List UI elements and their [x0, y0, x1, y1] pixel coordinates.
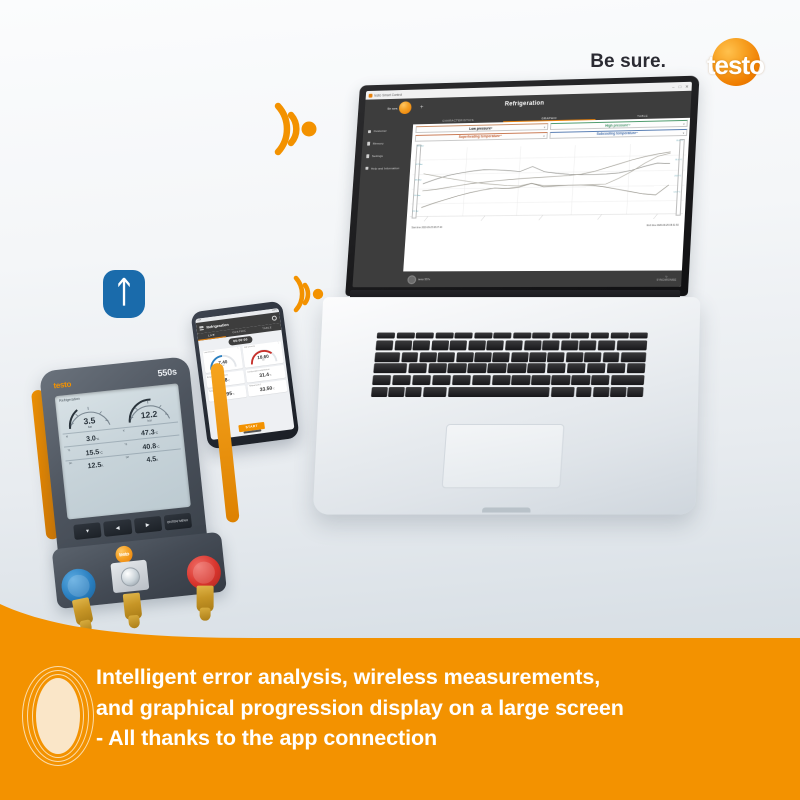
chevron-down-icon[interactable]: ▾ [683, 132, 685, 135]
key-3[interactable] [431, 340, 449, 350]
promo-banner: Intelligent error analysis, wireless mea… [0, 638, 800, 800]
card-evaporation-unit: °C [227, 380, 230, 382]
app-footer: testo 557s ↻ SYNCHRONISE [402, 270, 682, 287]
key-f10[interactable] [571, 333, 589, 339]
key-0[interactable] [561, 340, 579, 350]
key-f9[interactable] [552, 333, 570, 339]
key-8[interactable] [524, 340, 542, 350]
axis-label-left-3: 18.0 bar [415, 179, 422, 181]
banner-line-3: - All thanks to the app connection [96, 723, 786, 754]
key-adiaeresis[interactable] [607, 363, 626, 373]
sidebar-label-help: Help and Information [371, 166, 400, 170]
close-button[interactable]: ✕ [685, 84, 689, 89]
low-side-port [72, 597, 94, 626]
display-value-tc: 47.3 [141, 429, 155, 437]
card-temperature-2-unit: °C [272, 389, 275, 391]
wireless-signal-mid-svg [286, 272, 330, 316]
key-a[interactable] [408, 363, 427, 373]
enter-button[interactable]: ENTER/ MENU [163, 513, 192, 531]
axis-label-left-2: 8.73 bar [416, 163, 423, 165]
display-cell-sc: SC 12.5K [69, 457, 123, 472]
chart-line-superheating-temperature [422, 153, 670, 187]
display-unit-tc: °C [155, 431, 159, 435]
axis-label-right-min: 12.0 °C [673, 191, 680, 193]
axis-label-right-max: 35.0 °C [676, 140, 683, 142]
key-shift-right[interactable] [611, 375, 645, 385]
synchronise-button[interactable]: ↻ SYNCHRONISE [656, 276, 676, 282]
key-space[interactable] [448, 387, 550, 397]
key-f3[interactable] [435, 333, 453, 339]
key-option-right[interactable] [576, 387, 592, 397]
laptop-lid-notch [482, 507, 531, 512]
device-name: testo 557s [418, 278, 430, 281]
banner-line-1: Intelligent error analysis, wireless mea… [96, 662, 786, 693]
bluetooth-icon: ᛏ [103, 270, 145, 318]
brand-tagline: Be sure. [590, 51, 666, 73]
axis-label-left-4: 13.0 bar [414, 195, 421, 197]
card-temperature-2-value: 33.50 [259, 386, 272, 394]
card-condensation-unit: °C [269, 374, 272, 376]
key-7[interactable] [505, 340, 523, 350]
chart-line-low-pressure [422, 162, 669, 183]
key-f4[interactable] [454, 333, 472, 339]
key-b[interactable] [492, 375, 511, 385]
select-subcooling-temperature[interactable]: Subcooling temperaturesc ▾ [549, 129, 687, 139]
bluetooth-glyph: ᛏ [103, 278, 145, 308]
wireless-signal-top-svg [264, 98, 326, 160]
laptop-keyboard[interactable] [370, 333, 648, 410]
display-unit-t2: °C [156, 444, 160, 448]
key-command-right[interactable] [551, 387, 575, 397]
sight-glass-housing [110, 560, 149, 594]
key-backspace[interactable] [616, 340, 647, 350]
sidebar-item-memory[interactable]: Memory [362, 137, 412, 150]
sidebar-label-customer: Customer [373, 129, 386, 133]
key-f2[interactable] [416, 333, 434, 339]
key-f12[interactable] [610, 333, 628, 339]
sidebar-item-help[interactable]: Help and Information [360, 162, 410, 175]
key-power[interactable] [630, 333, 648, 339]
key-shift-left[interactable] [372, 375, 391, 385]
display-value-t1: 15.5 [85, 449, 99, 457]
key-f5[interactable] [474, 333, 492, 339]
key-o[interactable] [547, 352, 565, 362]
minimize-button[interactable]: – [672, 84, 675, 89]
key-control[interactable] [388, 387, 405, 397]
keyboard-row-numbers[interactable] [376, 340, 648, 350]
app-content: CHARACTERISTICS GRAPHIC TABLE Low pressu… [402, 111, 690, 287]
measurement-chart[interactable]: 31.0 bar 8.73 bar 18.0 bar 13.0 bar 8.0 … [409, 139, 687, 228]
key-comma[interactable] [551, 375, 570, 385]
chart-canvas [409, 139, 687, 228]
display-unit-to: °C [96, 437, 100, 441]
key-arrow-updown[interactable] [610, 387, 626, 397]
gauge-high-pressure: 18.60 bar [244, 345, 281, 366]
key-dash[interactable] [591, 375, 610, 385]
key-f8[interactable] [532, 333, 550, 339]
key-n[interactable] [511, 375, 530, 385]
avatar [407, 275, 416, 284]
laptop-lid: testo Smart Control – □ ✕ Be sure. + Ref… [345, 76, 699, 296]
key-odiaeresis[interactable] [587, 363, 606, 373]
display-value-sc: 12.5 [87, 462, 101, 470]
brand-name: testo [707, 50, 764, 81]
chart-end-time: End time 2020-09-25 08:31:50 [647, 224, 679, 226]
select-superheating-temperature[interactable]: Superheating temperaturesh ▾ [414, 132, 547, 142]
database-icon [367, 142, 370, 145]
key-d[interactable] [448, 363, 467, 373]
laptop-base [313, 297, 701, 514]
laptop-screen: testo Smart Control – □ ✕ Be sure. + Ref… [352, 82, 692, 287]
chart-start-time: Start time 2020-09-25 08:27:40 [411, 227, 442, 229]
laptop-device: testo Smart Control – □ ✕ Be sure. + Ref… [318, 78, 698, 518]
key-hash[interactable] [626, 363, 645, 373]
user-icon [368, 130, 371, 133]
keyboard-row-qwertz[interactable] [374, 352, 646, 362]
key-5[interactable] [468, 340, 486, 350]
key-y[interactable] [412, 375, 431, 385]
laptop-trackpad[interactable] [442, 424, 565, 488]
key-command-left[interactable] [423, 387, 447, 397]
axis-label-left-min: 8.0 bar [412, 210, 418, 212]
instrument-housing: testo 550s Refrigeration 3.5 [39, 356, 208, 557]
key-4[interactable] [450, 340, 468, 350]
key-r[interactable] [456, 352, 474, 362]
chevron-down-icon[interactable]: ▾ [544, 126, 545, 129]
key-h[interactable] [507, 363, 526, 373]
axis-label-right-3: 24.0 °C [674, 175, 681, 177]
left-button[interactable]: ◀ [103, 519, 132, 537]
select-high-pressure-label: High pressure [605, 123, 628, 128]
key-z[interactable] [492, 352, 510, 362]
key-1[interactable] [394, 340, 412, 350]
card-temperature-1-unit: °C [232, 394, 235, 396]
page-title: Refrigeration [365, 97, 691, 111]
app-icon [369, 93, 373, 97]
key-k[interactable] [547, 363, 566, 373]
key-udiaeresis[interactable] [584, 352, 602, 362]
select-superheating-sub: sh [500, 135, 502, 137]
service-port [123, 592, 143, 620]
axis-label-left-max: 31.0 bar [417, 145, 424, 147]
key-2[interactable] [413, 340, 431, 350]
gear-icon[interactable] [272, 315, 278, 321]
display-cell-sh: SH 4.5K [125, 451, 179, 466]
key-arrow-right[interactable] [627, 387, 643, 397]
select-superheating-label: Superheating temperature [459, 134, 500, 139]
right-button[interactable]: ▶ [133, 516, 162, 534]
ring-fill [36, 678, 80, 754]
display-unit-sc: K [101, 463, 103, 467]
key-w[interactable] [419, 352, 437, 362]
key-f6[interactable] [493, 333, 511, 339]
key-option-left[interactable] [405, 387, 422, 397]
banner-headline: Intelligent error analysis, wireless mea… [96, 662, 786, 754]
select-low-pressure-sub: lp [491, 127, 493, 129]
key-plus[interactable] [602, 352, 619, 362]
window-title: testo Smart Control [374, 92, 402, 97]
card-temperature-2[interactable]: Temperature 2 33.50°C [247, 380, 287, 397]
help-icon [365, 167, 368, 170]
chart-grid [409, 143, 686, 217]
instrument-display: Refrigeration 3.5 bar [55, 383, 191, 519]
key-circumflex[interactable] [376, 340, 394, 350]
chart-series [421, 151, 670, 207]
select-subcooling-label: Subcooling temperature [596, 131, 636, 136]
key-less[interactable] [392, 375, 411, 385]
testo-550s-manifold: testo 550s Refrigeration 3.5 [33, 353, 245, 629]
instrument-brand: testo [53, 380, 71, 391]
key-f11[interactable] [591, 333, 609, 339]
key-s[interactable] [428, 363, 447, 373]
key-l[interactable] [567, 363, 586, 373]
display-gauge-high: 12.2 bar [122, 392, 175, 427]
keyboard-row-yxcv[interactable] [372, 375, 644, 385]
key-i[interactable] [529, 352, 547, 362]
key-f1[interactable] [396, 333, 414, 339]
keyboard-row-function[interactable] [377, 333, 648, 339]
key-q[interactable] [401, 352, 419, 362]
key-p[interactable] [566, 352, 584, 362]
key-fn[interactable] [371, 387, 388, 397]
key-j[interactable] [527, 363, 546, 373]
chevron-down-icon[interactable]: ▾ [543, 135, 544, 138]
axis-label-right-2: 31.4 °C [675, 159, 682, 161]
key-esc[interactable] [377, 333, 395, 339]
keyboard-row-space[interactable] [371, 387, 644, 397]
banner-ring-decoration [22, 666, 94, 766]
key-arrow-left[interactable] [593, 387, 609, 397]
key-g[interactable] [487, 363, 506, 373]
key-capslock[interactable] [373, 363, 407, 373]
card-high-pressure[interactable]: High pressure ⋮ 18.60 bar [242, 341, 283, 369]
chart-line-subcooling-temperature [421, 181, 669, 207]
key-u[interactable] [511, 352, 529, 362]
key-return[interactable] [621, 352, 647, 362]
key-e[interactable] [438, 352, 456, 362]
key-6[interactable] [487, 340, 505, 350]
key-minus[interactable] [579, 340, 597, 350]
wireless-signal-icon [286, 272, 330, 316]
keyboard-row-asdf[interactable] [373, 363, 645, 373]
banner-line-2: and graphical progression display on a l… [96, 693, 786, 724]
instrument-model: 550s [157, 366, 177, 378]
display-unit-t1: °C [99, 450, 103, 454]
key-equal[interactable] [598, 340, 616, 350]
sidebar-item-settings[interactable]: Settings [361, 149, 411, 162]
key-x[interactable] [432, 375, 451, 385]
wireless-signal-icon [264, 98, 326, 160]
hamburger-icon[interactable] [199, 326, 203, 330]
connected-device[interactable]: testo 557s [407, 275, 430, 284]
display-unit-sh: K [156, 458, 158, 462]
display-value-t2: 40.8 [142, 443, 156, 451]
maximize-button[interactable]: □ [678, 84, 681, 89]
key-c[interactable] [452, 375, 471, 385]
key-v[interactable] [472, 375, 491, 385]
key-period[interactable] [571, 375, 590, 385]
key-f7[interactable] [513, 333, 531, 339]
high-side-port [197, 586, 214, 612]
key-9[interactable] [542, 340, 560, 350]
display-gauge-low: 3.5 bar [62, 398, 115, 433]
key-m[interactable] [531, 375, 550, 385]
sync-label: SYNCHRONISE [656, 279, 676, 282]
sidebar-item-customer[interactable]: Customer [363, 124, 413, 137]
title-bar-left: testo Smart Control [369, 92, 403, 97]
window-controls[interactable]: – □ ✕ [672, 84, 689, 89]
select-subcooling-sub: sc [636, 132, 638, 134]
sidebar-label-settings: Settings [372, 154, 383, 158]
select-low-pressure-label: Low pressure [469, 126, 491, 130]
key-t[interactable] [474, 352, 492, 362]
menu-button[interactable]: ▼ [73, 522, 102, 540]
gear-icon [366, 154, 369, 157]
key-f[interactable] [467, 363, 486, 373]
key-tab[interactable] [374, 352, 400, 362]
select-high-pressure-sub: hp [628, 124, 630, 126]
sidebar-label-memory: Memory [373, 142, 384, 146]
sight-glass [119, 566, 140, 587]
card-condensation-value: 31.4 [259, 372, 269, 379]
chevron-down-icon[interactable]: ▾ [683, 123, 685, 126]
